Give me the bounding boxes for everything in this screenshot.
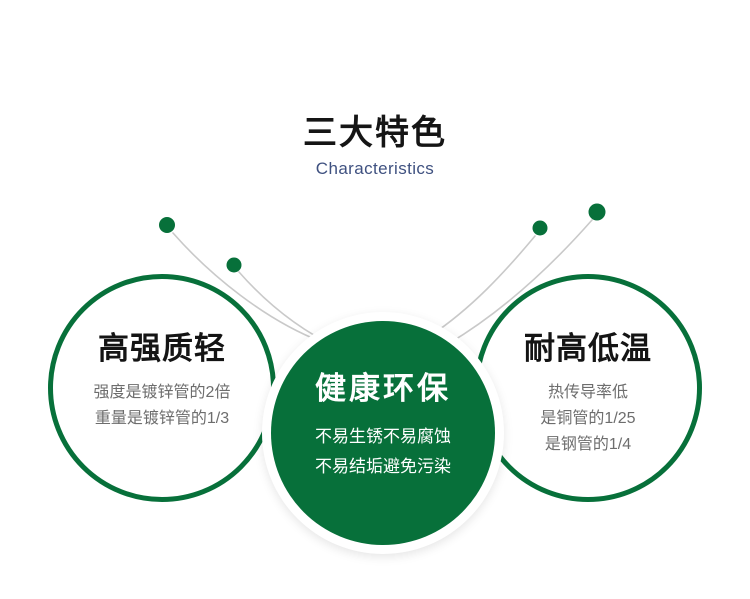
feature-title-center: 健康环保 [271, 373, 495, 404]
dot-left-inner-icon [227, 258, 242, 273]
feature-line: 重量是镀锌管的1/3 [53, 406, 271, 432]
feature-lines-center: 不易生锈不易腐蚀 不易结垢避免污染 [271, 422, 495, 482]
feature-circle-high-strength-light-weight: 高强质轻 强度是镀锌管的2倍 重量是镀锌管的1/3 [48, 274, 276, 502]
feature-lines-right: 热传导率低 是铜管的1/25 是钢管的1/4 [479, 380, 697, 458]
feature-line: 热传导率低 [479, 380, 697, 406]
feature-line: 是钢管的1/4 [479, 432, 697, 458]
feature-circle-healthy-environmental: 健康环保 不易生锈不易腐蚀 不易结垢避免污染 [271, 321, 495, 545]
feature-line: 强度是镀锌管的2倍 [53, 380, 271, 406]
feature-line: 是铜管的1/25 [479, 406, 697, 432]
feature-line: 不易结垢避免污染 [271, 452, 495, 482]
feature-line: 不易生锈不易腐蚀 [271, 422, 495, 452]
feature-circle-high-low-temperature-resistant: 耐高低温 热传导率低 是铜管的1/25 是钢管的1/4 [474, 274, 702, 502]
feature-title-right: 耐高低温 [479, 333, 697, 364]
dot-right-inner-icon [533, 221, 548, 236]
feature-circles-graphic: 三大特色 Characteristics 高强质轻 强度是镀锌管的2倍 重量是镀… [0, 0, 750, 599]
dot-left-outer-icon [159, 217, 175, 233]
connector-dots [159, 204, 606, 273]
feature-title-left: 高强质轻 [53, 333, 271, 364]
dot-right-outer-icon [589, 204, 606, 221]
feature-lines-left: 强度是镀锌管的2倍 重量是镀锌管的1/3 [53, 380, 271, 432]
